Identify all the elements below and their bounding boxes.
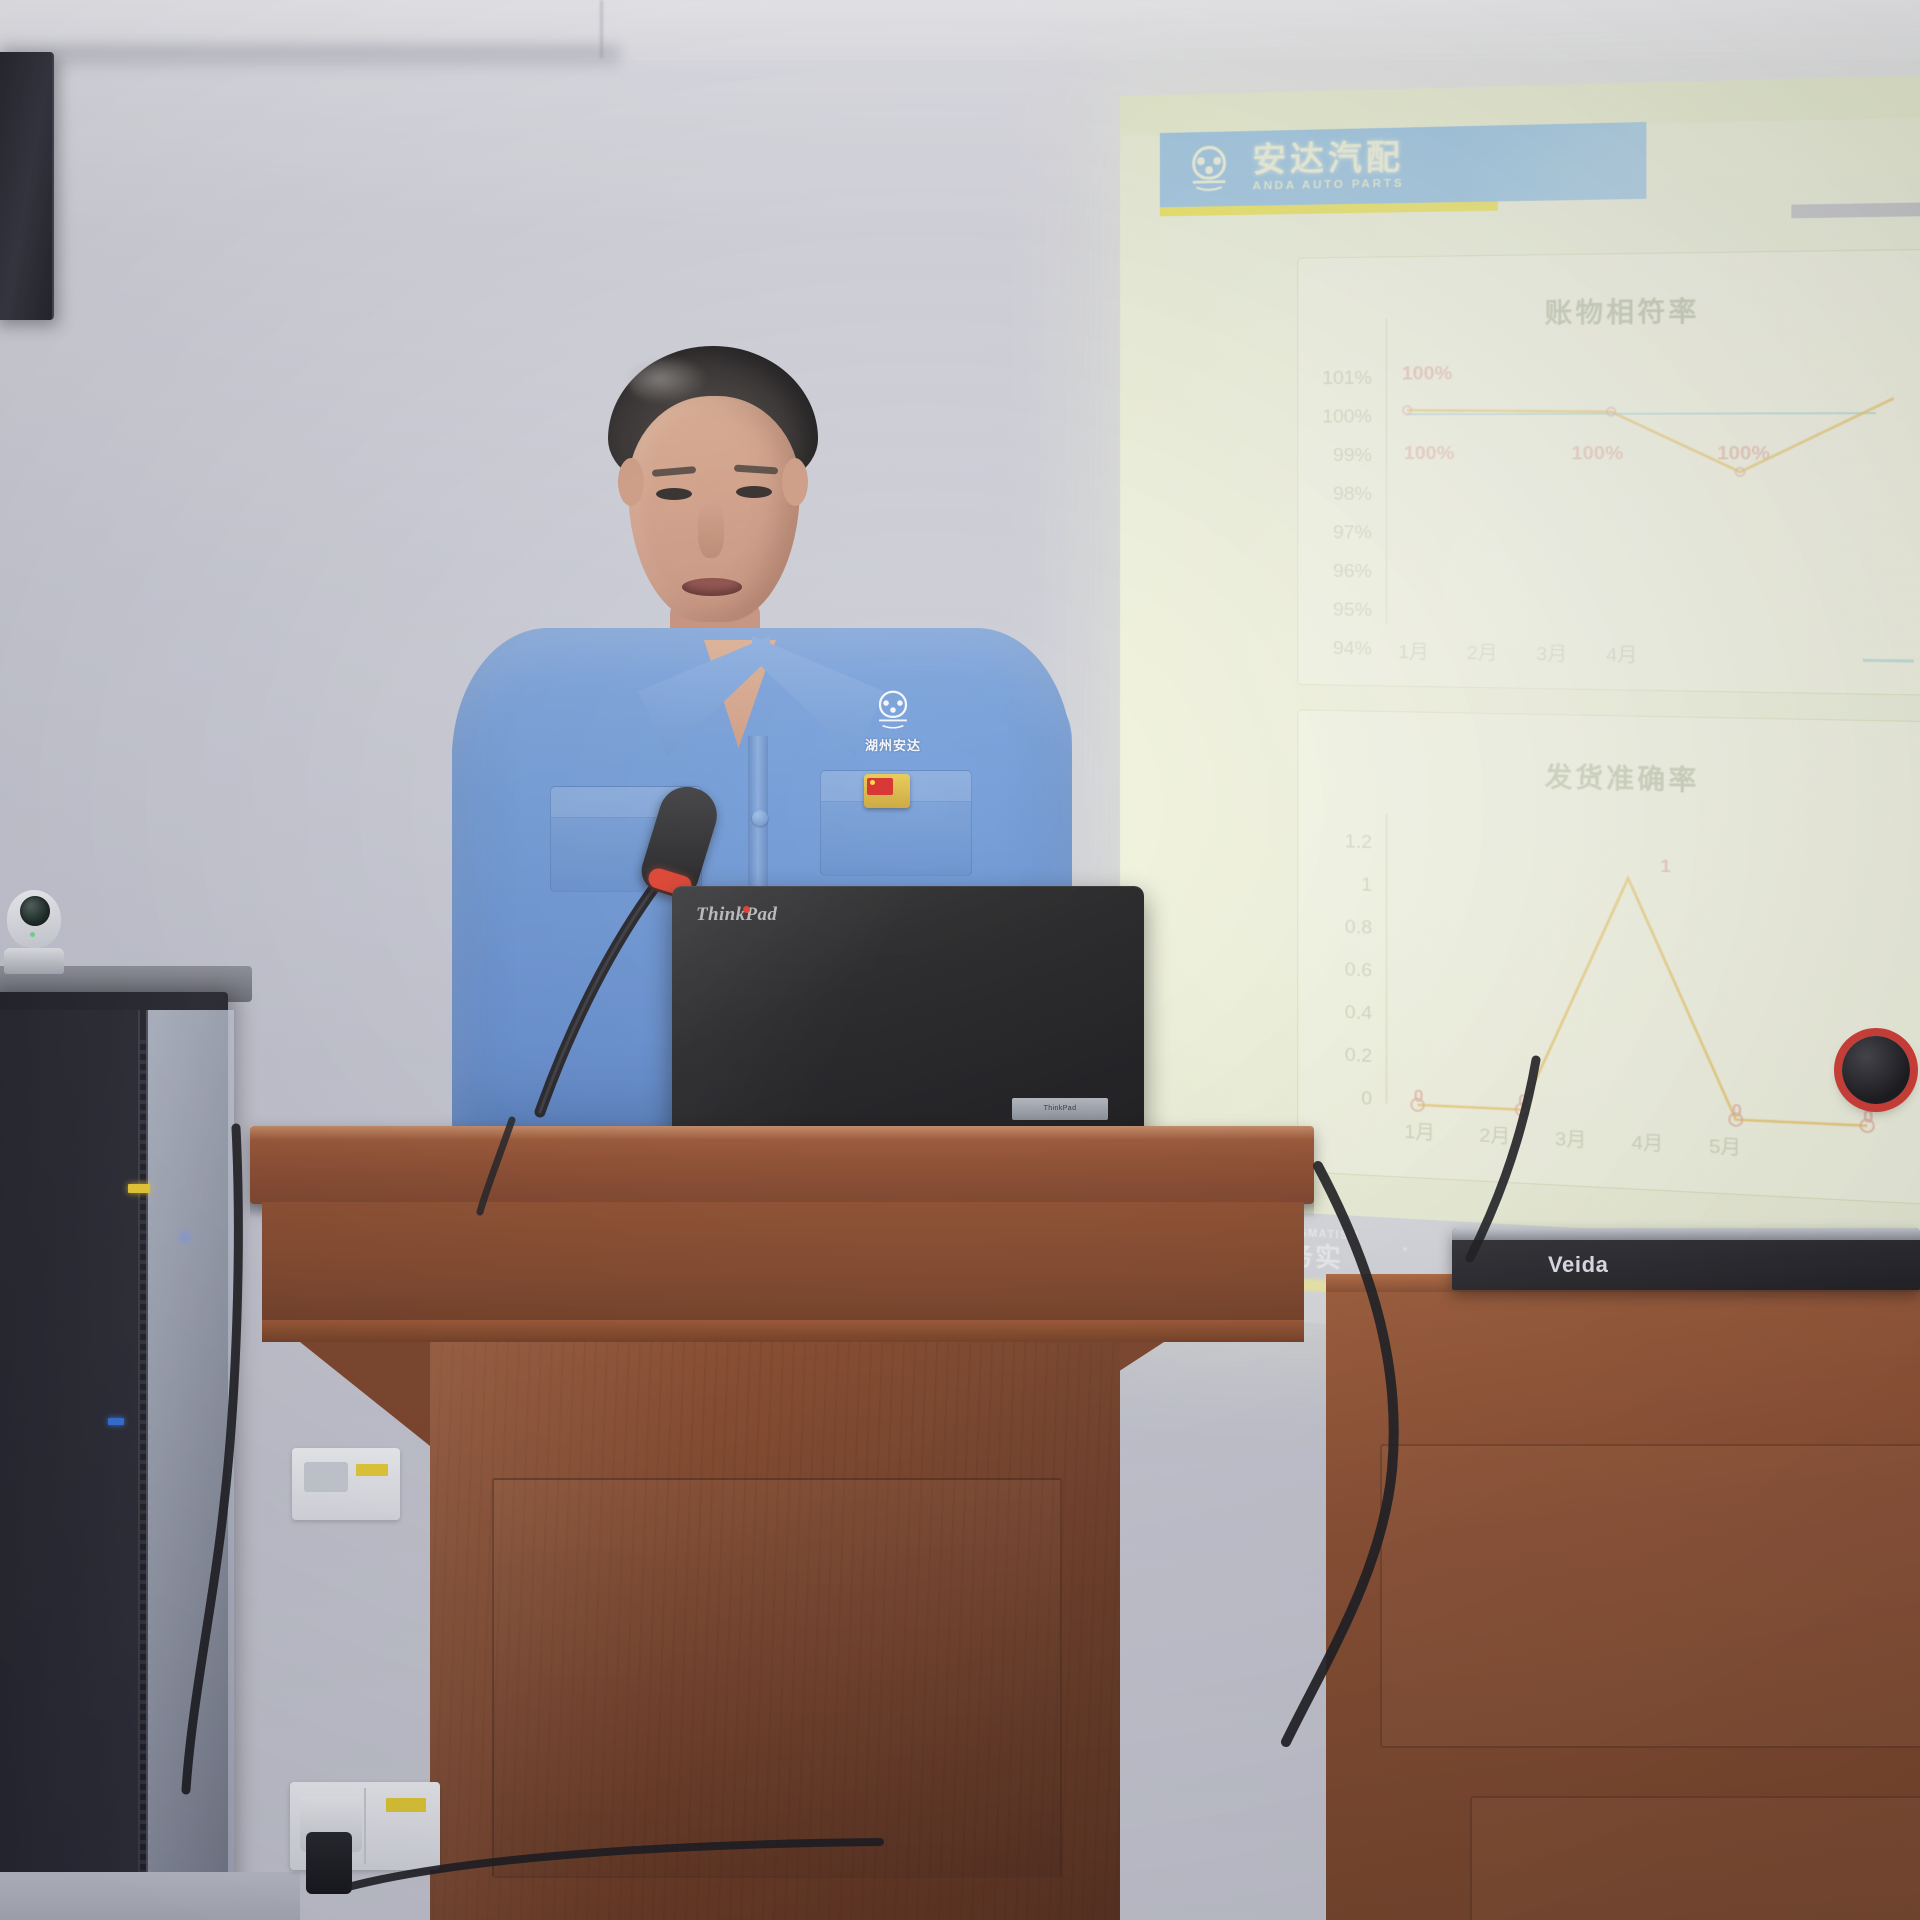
scene-vignette [0, 0, 1920, 1920]
scene-root: 安达汽配 ANDA AUTO PARTS 账物相符率 101% 100% 99%… [0, 0, 1920, 1920]
